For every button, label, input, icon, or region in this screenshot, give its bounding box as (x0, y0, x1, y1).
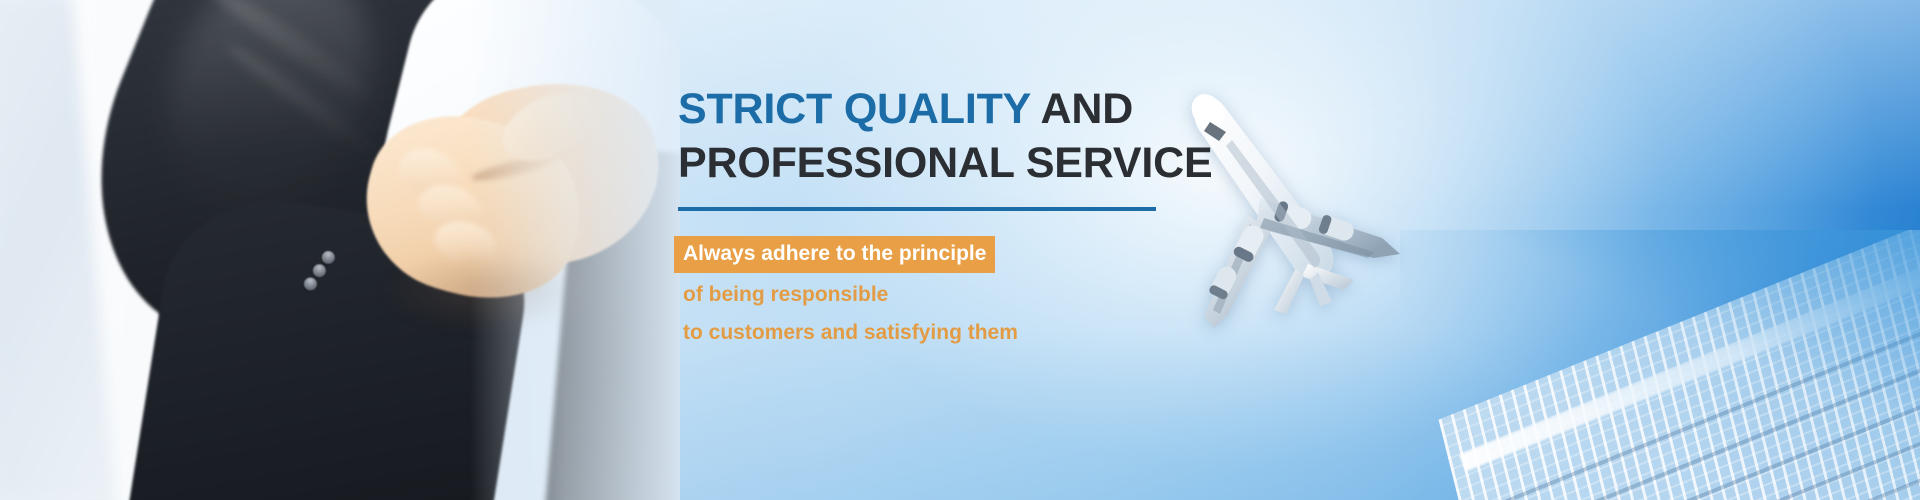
second-person-suit (544, 144, 680, 500)
banner-text-block: STRICT QUALITY AND PROFESSIONAL SERVICE … (678, 82, 1378, 348)
headline-line-1-rest: AND (1030, 85, 1133, 133)
hand-shadow (380, 250, 610, 330)
subtitle-line-3: to customers and satisfying them (683, 318, 1378, 348)
handshake-photo (0, 0, 680, 500)
promo-banner: STRICT QUALITY AND PROFESSIONAL SERVICE … (0, 0, 1920, 500)
headline-line-1: STRICT QUALITY AND (678, 82, 1378, 136)
subtitle-line-2: of being responsible (683, 280, 1378, 310)
headline-highlight: STRICT QUALITY (678, 85, 1030, 133)
thumb (492, 80, 604, 174)
subtitle-line-1-wrap: Always adhere to the principle (678, 236, 1378, 273)
headline-divider (678, 207, 1156, 211)
headline-line-2: PROFESSIONAL SERVICE (678, 136, 1378, 190)
subtitle-block: Always adhere to the principle of being … (678, 236, 1378, 348)
finger-gap-shadow (470, 149, 567, 186)
subtitle-line-1: Always adhere to the principle (674, 236, 995, 273)
